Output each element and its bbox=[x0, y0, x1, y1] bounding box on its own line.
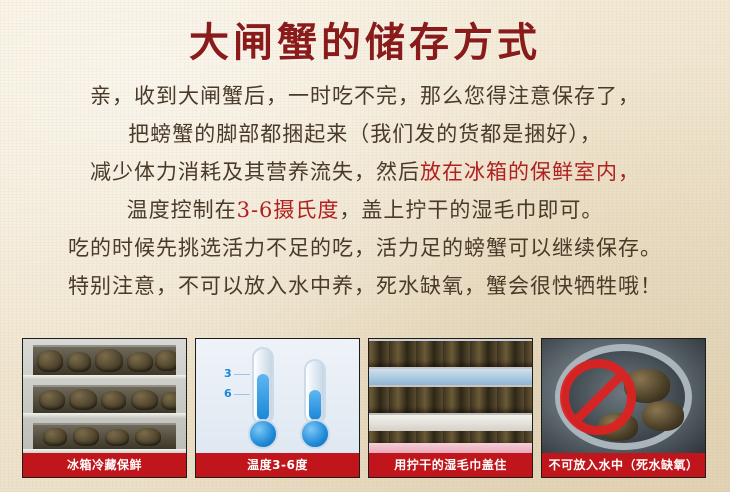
crab-row-2 bbox=[369, 387, 532, 413]
scale-line-3 bbox=[234, 374, 250, 375]
card-caption-no-water: 不可放入水中（死水缺氧） bbox=[542, 453, 705, 477]
card-caption-fridge: 冰箱冷藏保鲜 bbox=[23, 453, 186, 477]
scale-label-6: 6 bbox=[224, 387, 232, 400]
paragraph-3: 减少体力消耗及其营养流失，然后放在冰箱的保鲜室内， bbox=[30, 156, 700, 188]
card-caption-temperature: 温度3-6度 bbox=[196, 453, 359, 477]
thermometer-photo: 3 6 bbox=[196, 339, 359, 455]
body-copy: 亲，收到大闸蟹后，一时吃不完，那么您得注意保存了， 把螃蟹的脚部都捆起来（我们发… bbox=[30, 80, 700, 308]
card-caption-towel: 用拧干的湿毛巾盖住 bbox=[369, 453, 532, 477]
crab-row-1 bbox=[369, 341, 532, 367]
no-entry-icon bbox=[560, 359, 636, 435]
card-towel: 用拧干的湿毛巾盖住 bbox=[368, 338, 533, 478]
paragraph-3-part-1: 减少体力消耗及其营养流失，然后 bbox=[90, 160, 420, 184]
photo-strip: 冰箱冷藏保鲜 3 6 bbox=[22, 338, 708, 478]
paragraph-1-part-1: 亲，收到大闸蟹后，一时吃不完，那么您得注意保存了， bbox=[90, 84, 640, 108]
towel-illustration bbox=[369, 339, 532, 455]
paragraph-5: 吃的时候先挑选活力不足的吃，活力足的螃蟹可以继续保存。 bbox=[30, 232, 700, 264]
thermometer-right-tube bbox=[304, 359, 326, 425]
paragraph-1: 亲，收到大闸蟹后，一时吃不完，那么您得注意保存了， bbox=[30, 80, 700, 112]
paragraph-6-part-1: 特别注意，不可以放入水中养，死水缺氧，蟹会很快牺牲哦！ bbox=[68, 274, 662, 298]
thermometer-illustration: 3 6 bbox=[196, 339, 359, 455]
card-temperature: 3 6 温度3-6度 bbox=[195, 338, 360, 478]
paragraph-2: 把螃蟹的脚部都捆起来（我们发的货都是捆好）， bbox=[30, 118, 700, 150]
paragraph-5-part-1: 吃的时候先挑选活力不足的吃，活力足的螃蟹可以继续保存。 bbox=[68, 236, 662, 260]
paragraph-4-highlight: 3-6摄氏度 bbox=[237, 198, 340, 222]
scale-line-6 bbox=[234, 394, 250, 395]
thermometer-right-bulb bbox=[300, 419, 330, 449]
fridge-photo bbox=[23, 339, 186, 455]
fridge-rail-2 bbox=[23, 413, 186, 418]
paragraph-6: 特别注意，不可以放入水中养，死水缺氧，蟹会很快牺牲哦！ bbox=[30, 270, 700, 302]
paragraph-4: 温度控制在3-6摄氏度，盖上拧干的湿毛巾即可。 bbox=[30, 194, 700, 226]
basin-illustration bbox=[542, 339, 705, 455]
thermometer-left-tube bbox=[252, 347, 274, 425]
fridge-illustration bbox=[23, 339, 186, 455]
towel-band-white bbox=[369, 415, 532, 431]
poster-root: 大闸蟹的储存方式 亲，收到大闸蟹后，一时吃不完，那么您得注意保存了， 把螃蟹的脚… bbox=[0, 0, 730, 492]
card-no-water: 不可放入水中（死水缺氧） bbox=[541, 338, 706, 478]
paragraph-4-part-1: 温度控制在 bbox=[127, 198, 237, 222]
paragraph-2-part-1: 把螃蟹的脚部都捆起来（我们发的货都是捆好）， bbox=[128, 122, 602, 146]
fridge-rail-1 bbox=[23, 375, 186, 380]
towel-band-blue bbox=[369, 369, 532, 385]
paragraph-3-highlight: 放在冰箱的保鲜室内， bbox=[420, 160, 640, 184]
thermometer-left-bulb bbox=[248, 419, 278, 449]
paragraph-4-part-3: ，盖上拧干的湿毛巾即可。 bbox=[339, 198, 603, 222]
no-water-basin-photo bbox=[542, 339, 705, 455]
towel-crabs-photo bbox=[369, 339, 532, 455]
thermometer-right-mercury bbox=[309, 390, 321, 420]
thermometer-left-mercury bbox=[257, 374, 269, 420]
scale-label-3: 3 bbox=[224, 367, 232, 380]
fridge-shelf-top bbox=[33, 345, 176, 379]
basin-crab-2 bbox=[642, 401, 684, 431]
card-fridge: 冰箱冷藏保鲜 bbox=[22, 338, 187, 478]
page-title: 大闸蟹的储存方式 bbox=[0, 10, 730, 68]
